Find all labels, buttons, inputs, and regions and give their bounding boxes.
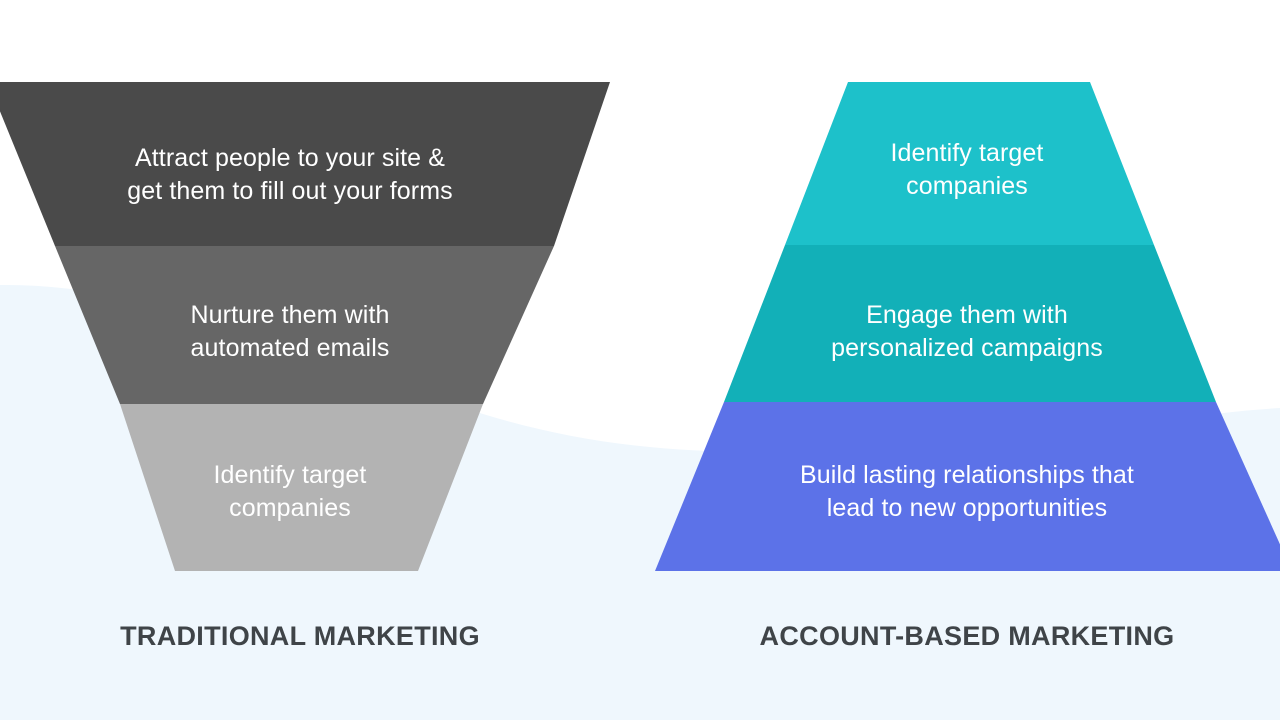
pyramid-segment-label-identify: Identify target companies [737,137,1197,203]
pyramid-segment-label-engage: Engage them with personalized campaigns [737,299,1197,365]
caption-account-based-marketing: ACCOUNT-BASED MARKETING [737,620,1197,652]
caption-traditional-marketing: TRADITIONAL MARKETING [70,620,530,652]
diagram-canvas: Attract people to your site & get them t… [0,0,1280,720]
funnel-segment-label-attract: Attract people to your site & get them t… [60,142,520,208]
funnel-segment-label-identify: Identify target companies [60,459,520,525]
pyramid-segment-label-build: Build lasting relationships that lead to… [737,459,1197,525]
funnel-segment-label-nurture: Nurture them with automated emails [60,299,520,365]
text-layer: Attract people to your site & get them t… [0,0,1280,720]
